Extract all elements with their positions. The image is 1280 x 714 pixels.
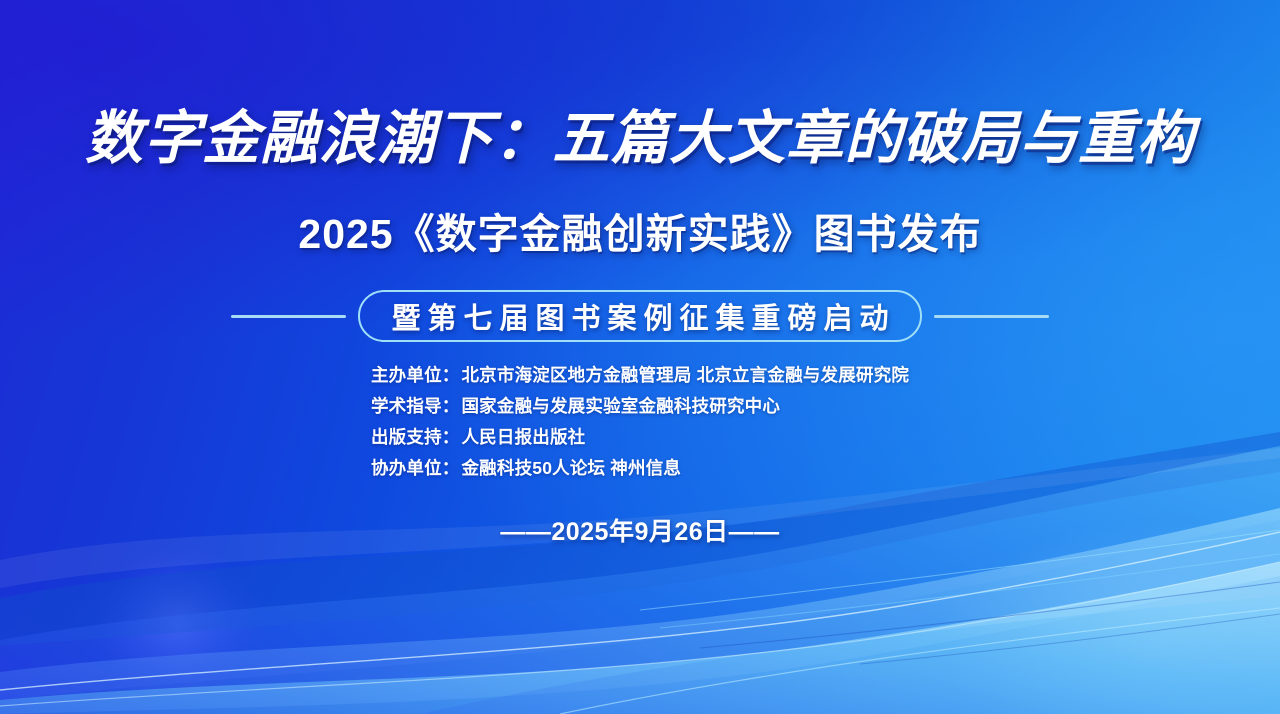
credit-line: 学术指导：国家金融与发展实验室金融科技研究中心 [371, 391, 909, 422]
pill-banner-row: 暨第七届图书案例征集重磅启动 [0, 289, 1280, 343]
credit-label: 协办单位： [371, 458, 460, 478]
credit-value: 国家金融与发展实验室金融科技研究中心 [461, 396, 780, 416]
subtitle: 2025《数字金融创新实践》图书发布 [0, 212, 1280, 257]
credit-line: 主办单位：北京市海淀区地方金融管理局 北京立言金融与发展研究院 [371, 360, 909, 391]
divider-line-left [231, 315, 346, 318]
event-date: ——2025年9月26日—— [500, 518, 779, 546]
event-date-row: ——2025年9月26日—— [0, 512, 1280, 548]
credits-block: 主办单位：北京市海淀区地方金融管理局 北京立言金融与发展研究院 学术指导：国家金… [0, 360, 1280, 484]
credits-list: 主办单位：北京市海淀区地方金融管理局 北京立言金融与发展研究院 学术指导：国家金… [371, 360, 909, 484]
credit-label: 主办单位： [371, 365, 460, 385]
event-poster: 数字金融浪潮下：五篇大文章的破局与重构 2025《数字金融创新实践》图书发布 暨… [0, 0, 1280, 714]
credit-value: 北京市海淀区地方金融管理局 北京立言金融与发展研究院 [461, 365, 909, 385]
credit-label: 出版支持： [371, 427, 460, 447]
credit-value: 金融科技50人论坛 神州信息 [461, 458, 681, 478]
pill-banner-label: 暨第七届图书案例征集重磅启动 [384, 295, 895, 337]
poster-content: 数字金融浪潮下：五篇大文章的破局与重构 2025《数字金融创新实践》图书发布 暨… [0, 0, 1280, 714]
credit-label: 学术指导： [371, 396, 460, 416]
credit-line: 出版支持：人民日报出版社 [371, 422, 909, 453]
pill-banner: 暨第七届图书案例征集重磅启动 [358, 290, 921, 342]
credit-line: 协办单位：金融科技50人论坛 神州信息 [371, 453, 909, 484]
page-title: 数字金融浪潮下：五篇大文章的破局与重构 [6, 108, 1273, 171]
credit-value: 人民日报出版社 [461, 427, 585, 447]
divider-line-right [934, 315, 1049, 318]
